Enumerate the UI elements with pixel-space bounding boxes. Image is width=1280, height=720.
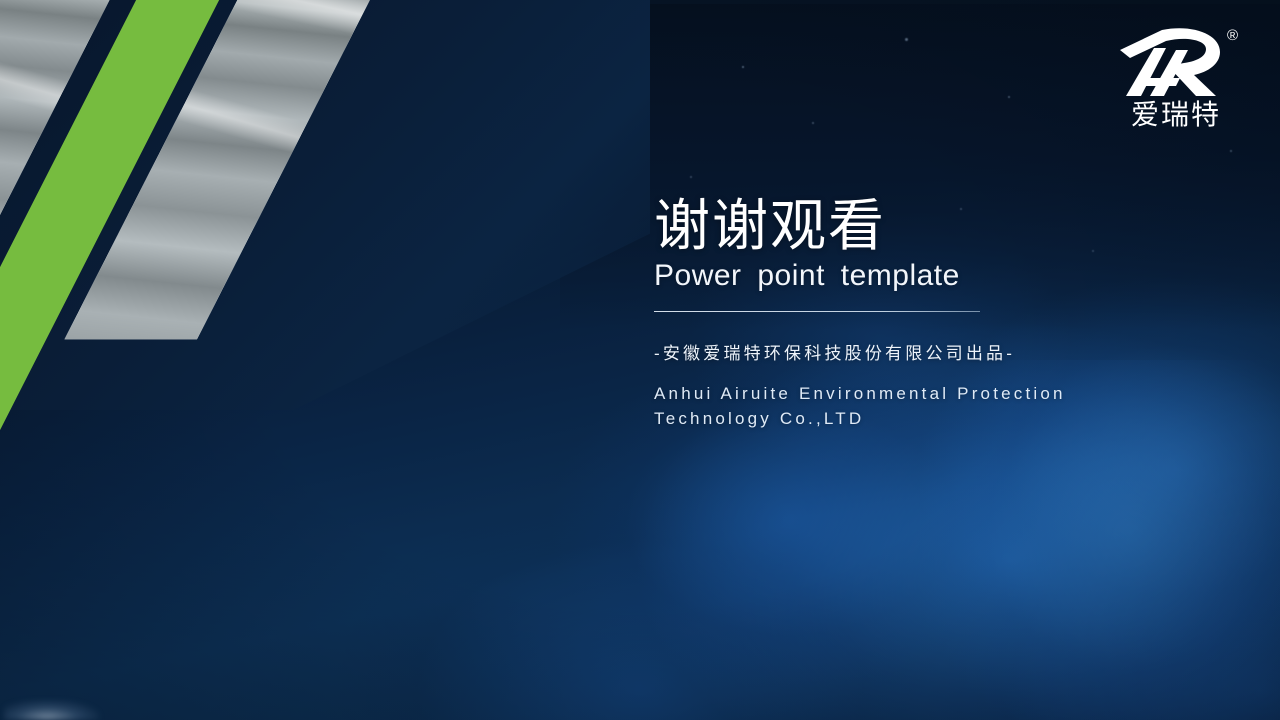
title-divider xyxy=(654,311,980,312)
star-speck xyxy=(742,66,744,68)
registered-trademark-icon: ® xyxy=(1227,28,1238,43)
diagonal-stripe-artwork xyxy=(0,0,640,560)
bottom-left-smudge xyxy=(4,700,100,720)
slide-title-cn: 谢谢观看 xyxy=(654,196,1214,256)
company-name-en: Anhui Airuite Environmental Protection T… xyxy=(654,382,1174,431)
company-name-cn: -安徽爱瑞特环保科技股份有限公司出品- xyxy=(654,342,1214,366)
ar-monogram-icon xyxy=(1108,28,1238,96)
brand-logo: ® 爱瑞特 xyxy=(1108,28,1238,148)
text-block: 谢谢观看 Power point template -安徽爱瑞特环保科技股份有限… xyxy=(654,196,1214,431)
star-speck xyxy=(1008,96,1010,98)
star-speck xyxy=(812,122,814,124)
closing-slide: ® 爱瑞特 谢谢观看 Power point template -安徽爱瑞特环保… xyxy=(0,0,1280,720)
slide-title-en: Power point template xyxy=(654,258,1214,295)
star-speck xyxy=(1230,150,1232,152)
brand-logo-name: 爱瑞特 xyxy=(1114,100,1238,131)
star-speck xyxy=(690,176,692,178)
star-speck xyxy=(905,38,908,41)
